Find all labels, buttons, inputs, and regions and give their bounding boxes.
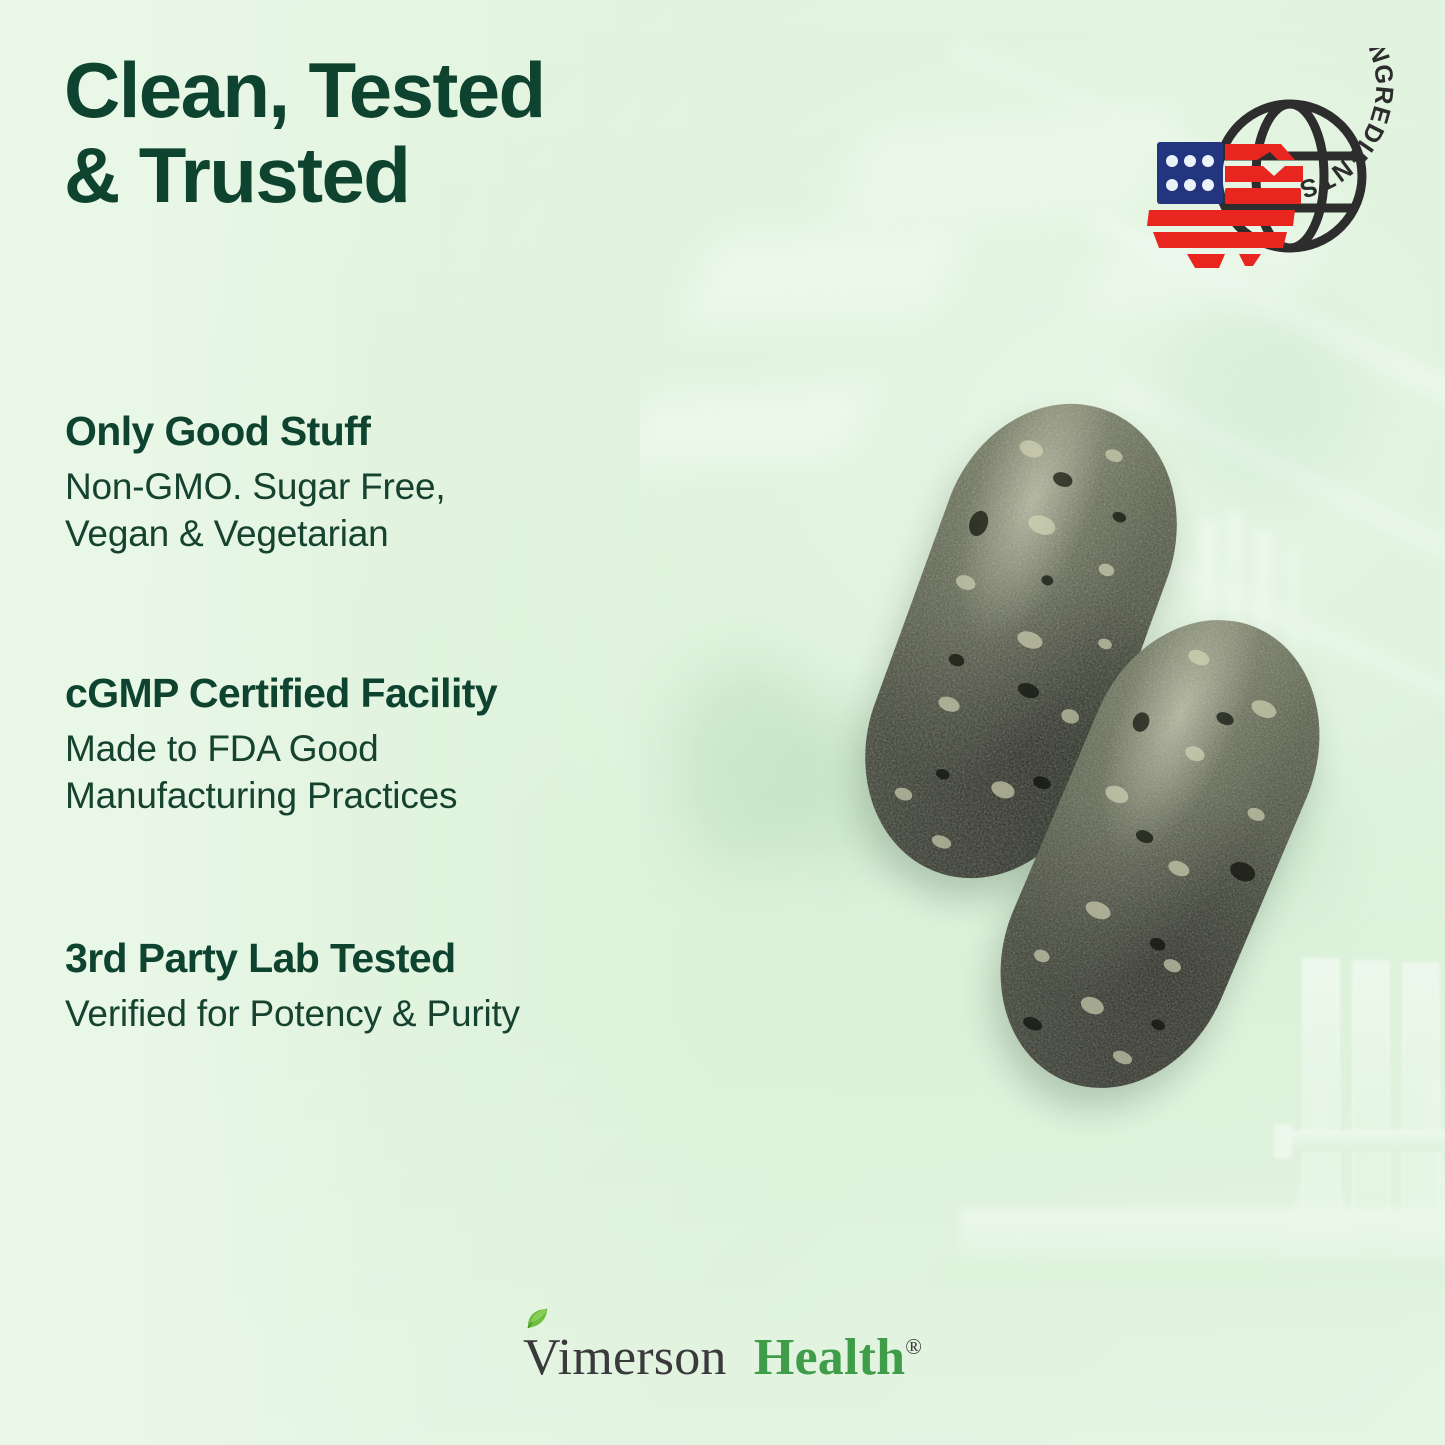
feature-3rd-party-lab-tested: 3rd Party Lab Tested Verified for Potenc… [65, 935, 765, 1037]
leaf-icon [524, 1307, 550, 1333]
feature-cgmp-certified-facility: cGMP Certified Facility Made to FDA Good… [65, 670, 765, 820]
brand-name-first-text: Vimerson [523, 1329, 727, 1386]
feature-subtitle: Non-GMO. Sugar Free, Vegan & Vegetarian [65, 463, 765, 558]
feature-only-good-stuff: Only Good Stuff Non-GMO. Sugar Free, Veg… [65, 408, 765, 558]
registered-trademark-symbol: ® [905, 1334, 922, 1359]
feature-title: Only Good Stuff [65, 408, 765, 455]
global-ingredients-badge: WITH GLOBAL INGREDIENTS [1135, 48, 1405, 318]
page-title-line-1: Clean, Tested [64, 48, 824, 133]
feature-subtitle: Made to FDA Good Manufacturing Practices [65, 725, 765, 820]
brand-logo: Vimerson Health® [0, 1328, 1445, 1387]
brand-name-first: Vimerson [523, 1329, 740, 1386]
page-title-line-2: & Trusted [64, 133, 824, 218]
promo-graphic: WITH GLOBAL INGREDIENTS [0, 0, 1445, 1445]
feature-subtitle: Verified for Potency & Purity [65, 990, 765, 1037]
feature-title: cGMP Certified Facility [65, 670, 765, 717]
page-title: Clean, Tested & Trusted [64, 48, 824, 218]
feature-title: 3rd Party Lab Tested [65, 935, 765, 982]
brand-name-second: Health [754, 1329, 905, 1386]
